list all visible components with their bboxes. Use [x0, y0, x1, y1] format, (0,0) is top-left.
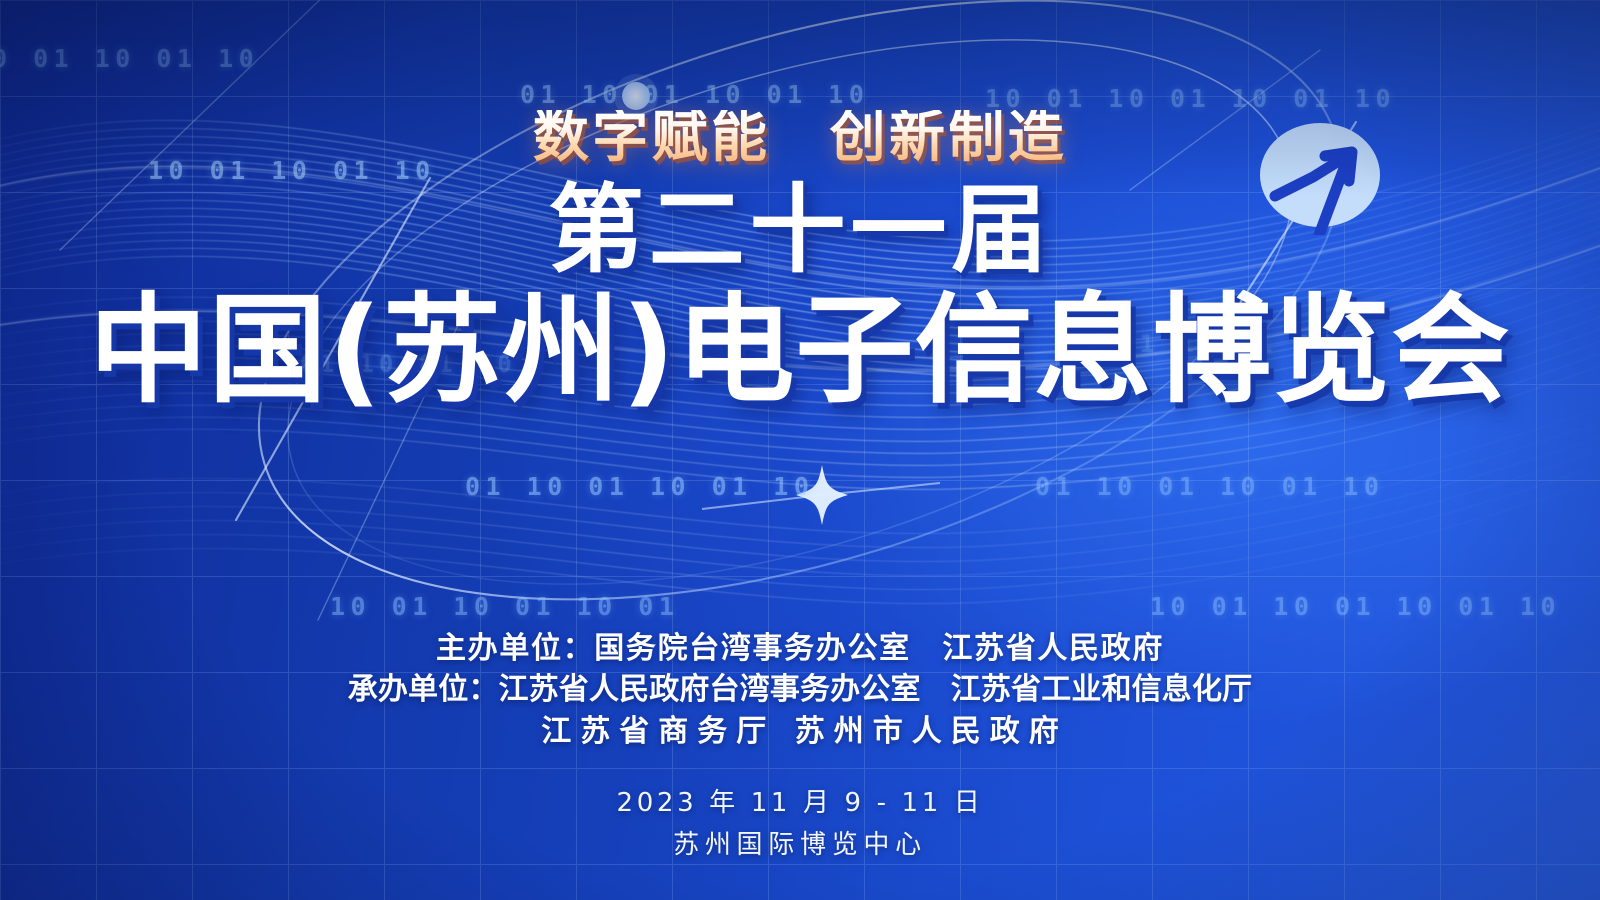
edition-title: 第二十一届	[548, 180, 1052, 281]
organizer-line-support: 江苏省商务厅 苏州市人民政府	[0, 711, 1600, 752]
organizer-line-co-host: 承办单位：江苏省人民政府台湾事务办公室 江苏省工业和信息化厅	[0, 669, 1600, 710]
slogan: 数字赋能 创新制造	[533, 110, 1067, 166]
organizer-line-host: 主办单位：国务院台湾事务办公室 江苏省人民政府	[0, 628, 1600, 669]
event-venue: 苏州国际博览中心	[0, 824, 1600, 866]
poster-content: 数字赋能 创新制造 第二十一届 中国(苏州)电子信息博览会	[0, 0, 1600, 900]
footer-block: 2023 年 11 月 9 - 11 日 苏州国际博览中心	[0, 782, 1600, 866]
event-date: 2023 年 11 月 9 - 11 日	[0, 782, 1600, 824]
organizers-block: 主办单位：国务院台湾事务办公室 江苏省人民政府 承办单位：江苏省人民政府台湾事务…	[0, 628, 1600, 752]
poster-canvas: 0 01 10 01 10 10 01 10 01 10 01 10 01 10…	[0, 0, 1600, 900]
page-title: 中国(苏州)电子信息博览会	[89, 287, 1510, 414]
